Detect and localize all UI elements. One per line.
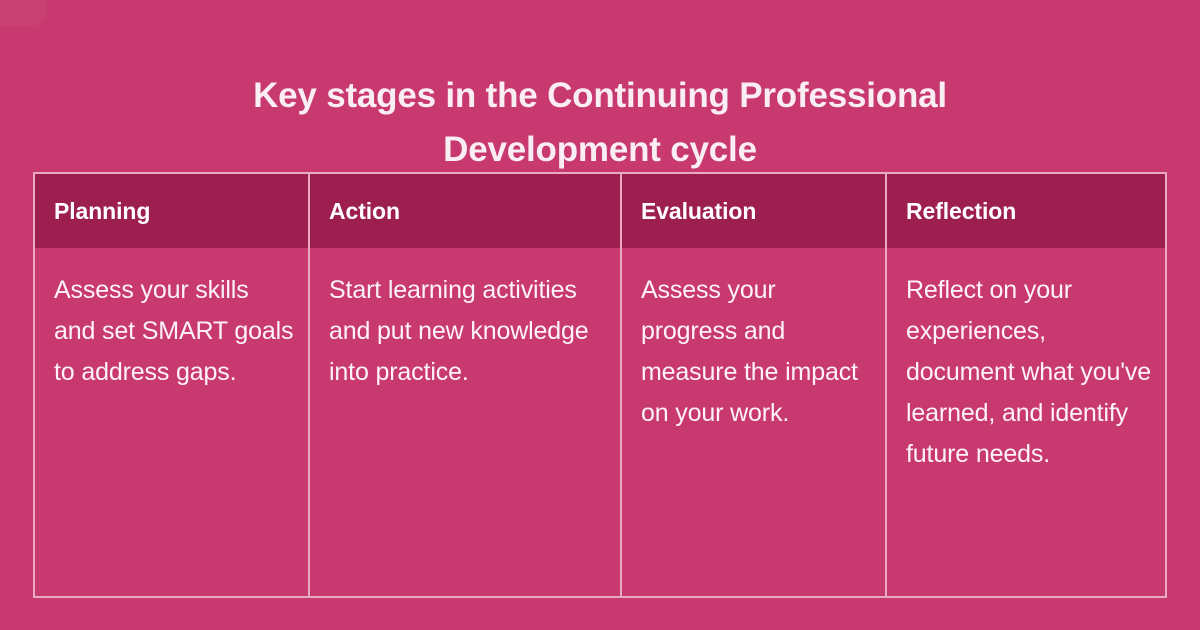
cell-evaluation-description: Assess your progress and measure the imp… (621, 248, 886, 597)
page-title-line-2: Development cycle (110, 123, 1090, 176)
table-header-row: Planning Action Evaluation Reflection (34, 173, 1166, 248)
cell-planning-description: Assess your skills and set SMART goals t… (34, 248, 309, 597)
column-header-reflection: Reflection (886, 173, 1166, 248)
cpd-stages-table: Planning Action Evaluation Reflection As… (33, 172, 1167, 598)
table-row: Assess your skills and set SMART goals t… (34, 248, 1166, 597)
column-header-evaluation: Evaluation (621, 173, 886, 248)
page-title: Key stages in the Continuing Professiona… (0, 69, 1200, 175)
table-header-row-group: Planning Action Evaluation Reflection (34, 173, 1166, 248)
page-title-line-1: Key stages in the Continuing Professiona… (110, 69, 1090, 122)
table-body: Assess your skills and set SMART goals t… (34, 248, 1166, 597)
cell-text: Reflect on your experiences, document wh… (906, 270, 1151, 475)
cell-reflection-description: Reflect on your experiences, document wh… (886, 248, 1166, 597)
cell-text: Start learning activities and put new kn… (329, 270, 606, 393)
column-header-planning: Planning (34, 173, 309, 248)
column-header-action: Action (309, 173, 621, 248)
corner-accent-shape (0, 0, 46, 26)
infographic-canvas: Key stages in the Continuing Professiona… (0, 0, 1200, 630)
cell-text: Assess your progress and measure the imp… (641, 270, 871, 434)
cell-text: Assess your skills and set SMART goals t… (54, 270, 294, 393)
cell-action-description: Start learning activities and put new kn… (309, 248, 621, 597)
